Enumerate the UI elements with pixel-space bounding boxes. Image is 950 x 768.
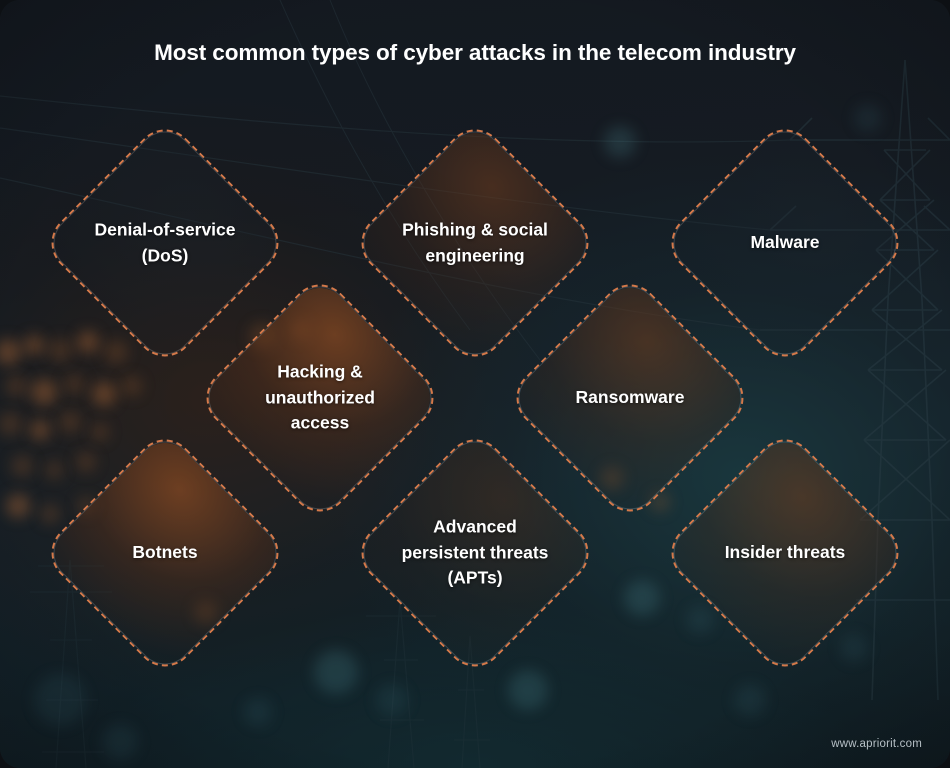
infographic-canvas: Most common types of cyber attacks in th…	[0, 0, 950, 768]
diamond-label: Hacking & unauthorized access	[220, 360, 420, 437]
diamond-label: Botnets	[65, 540, 265, 566]
diamond-botnets[interactable]: Botnets	[39, 427, 291, 679]
diamond-label: Ransomware	[530, 385, 730, 411]
diamond-label: Malware	[685, 230, 885, 256]
page-title: Most common types of cyber attacks in th…	[0, 40, 950, 66]
diamond-label: Denial-of-service (DoS)	[65, 217, 265, 268]
diamond-label: Insider threats	[685, 540, 885, 566]
diamond-label: Advanced persistent threats (APTs)	[375, 515, 575, 592]
site-watermark: www.apriorit.com	[831, 738, 922, 750]
diamond-apt[interactable]: Advanced persistent threats (APTs)	[349, 427, 601, 679]
diamond-label: Phishing & social engineering	[375, 217, 575, 268]
diamond-insider[interactable]: Insider threats	[659, 427, 911, 679]
attack-types-diagram: Denial-of-service (DoS)Phishing & social…	[0, 0, 950, 768]
